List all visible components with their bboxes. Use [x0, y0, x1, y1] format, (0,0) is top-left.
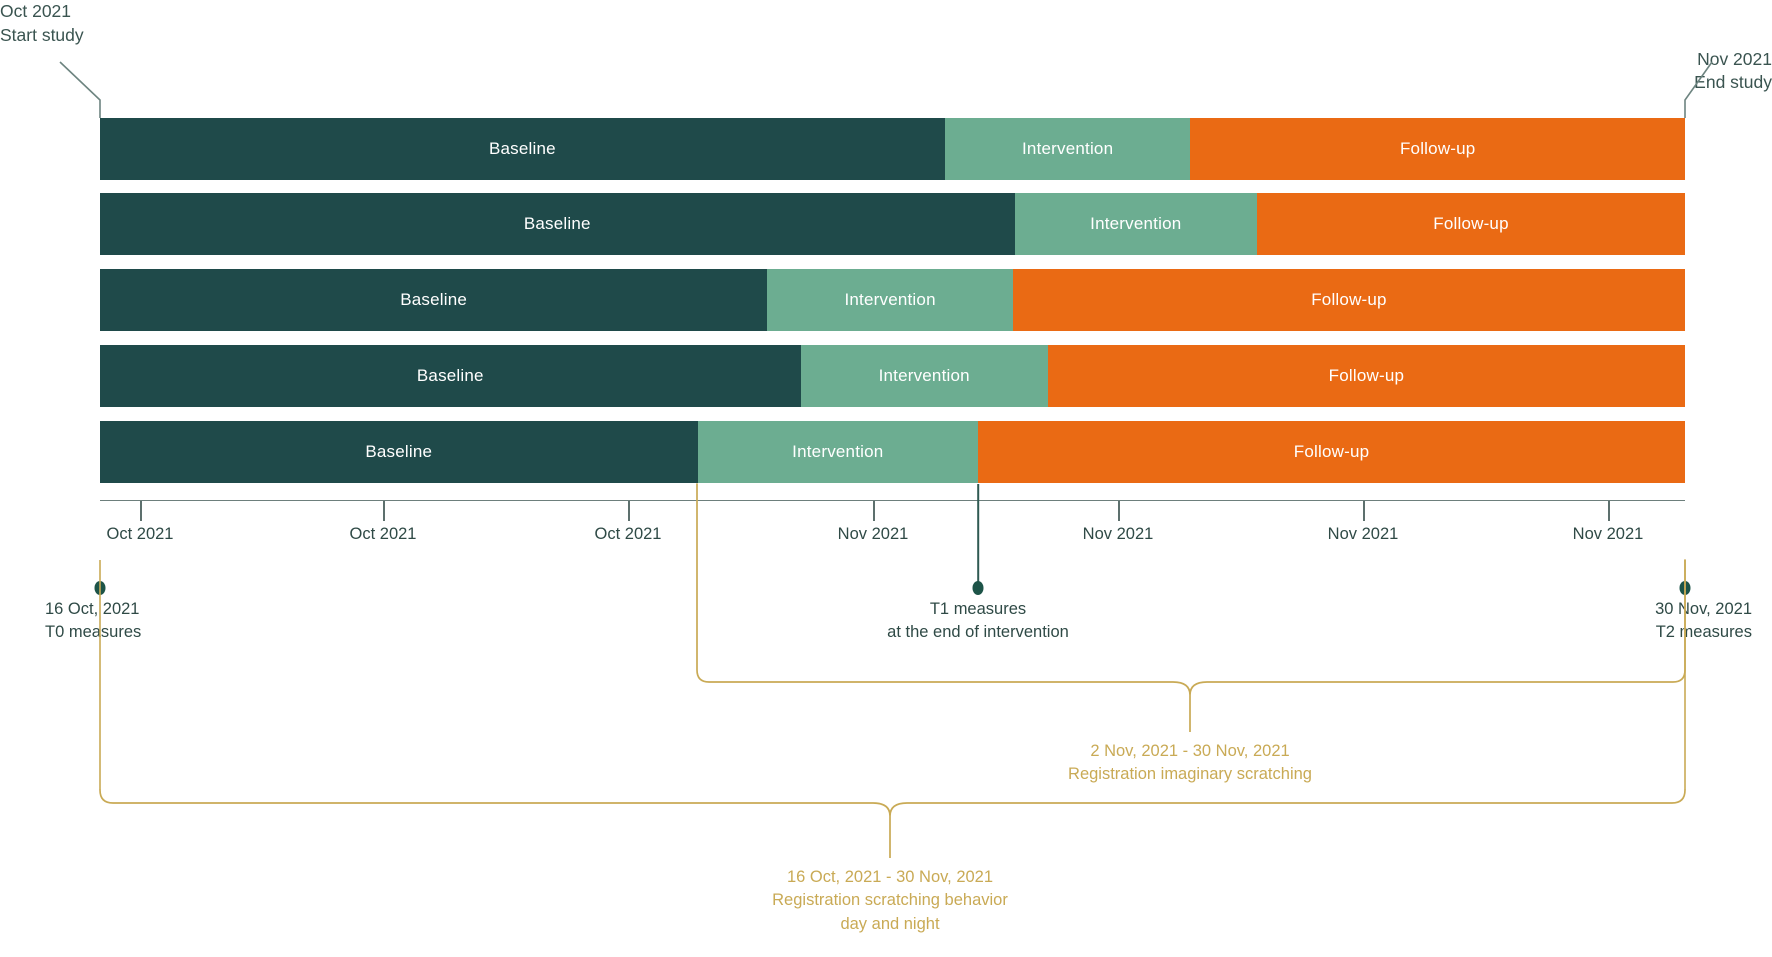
segment-label: Follow-up	[1294, 442, 1370, 462]
segment-label: Follow-up	[1329, 366, 1405, 386]
segment-label: Intervention	[844, 290, 935, 310]
segment-label: Baseline	[489, 139, 556, 159]
segment-baseline: Baseline	[100, 193, 1015, 255]
segment-label: Follow-up	[1311, 290, 1387, 310]
axis-tick-label: Oct 2021	[350, 525, 417, 544]
segment-followup: Follow-up	[1013, 269, 1685, 331]
timeline-diagram: Oct 2021 Start study Nov 2021 End study …	[0, 0, 1772, 957]
segment-label: Follow-up	[1400, 139, 1476, 159]
axis-tick	[628, 501, 630, 521]
axis-tick	[1363, 501, 1365, 521]
axis-tick	[873, 501, 875, 521]
axis-tick-label: Nov 2021	[1328, 525, 1399, 544]
segment-intervention: Intervention	[801, 345, 1048, 407]
segment-label: Follow-up	[1433, 214, 1509, 234]
segment-label: Baseline	[524, 214, 591, 234]
segment-baseline: Baseline	[100, 118, 945, 180]
segment-label: Baseline	[417, 366, 484, 386]
axis-tick-label: Oct 2021	[595, 525, 662, 544]
segment-label: Intervention	[879, 366, 970, 386]
milestone-dot-t0	[95, 581, 106, 595]
segment-followup: Follow-up	[1257, 193, 1685, 255]
segment-intervention: Intervention	[767, 269, 1013, 331]
table-row: Baseline Intervention Follow-up	[100, 193, 1685, 255]
segment-label: Intervention	[1090, 214, 1181, 234]
axis-tick-label: Nov 2021	[1573, 525, 1644, 544]
table-row: Baseline Intervention Follow-up	[100, 345, 1685, 407]
milestone-label-t2: 30 Nov, 2021 T2 measures	[1655, 598, 1752, 644]
axis-tick	[1118, 501, 1120, 521]
axis-tick-label: Nov 2021	[838, 525, 909, 544]
segment-baseline: Baseline	[100, 269, 767, 331]
segment-intervention: Intervention	[698, 421, 979, 483]
axis-tick-label: Nov 2021	[1083, 525, 1154, 544]
segment-baseline: Baseline	[100, 421, 698, 483]
axis-tick-label: Oct 2021	[107, 525, 174, 544]
milestone-stem-t1	[977, 484, 979, 588]
milestone-dot-t1	[973, 581, 984, 595]
axis-tick	[1608, 501, 1610, 521]
milestone-label-t1: T1 measures at the end of intervention	[887, 598, 1069, 644]
table-row: Baseline Intervention Follow-up	[100, 269, 1685, 331]
table-row: Baseline Intervention Follow-up	[100, 118, 1685, 180]
axis-tick	[140, 501, 142, 521]
segment-followup: Follow-up	[1190, 118, 1685, 180]
segment-baseline: Baseline	[100, 345, 801, 407]
segment-intervention: Intervention	[1015, 193, 1258, 255]
segment-label: Baseline	[365, 442, 432, 462]
table-row: Baseline Intervention Follow-up	[100, 421, 1685, 483]
segment-label: Baseline	[400, 290, 467, 310]
segment-intervention: Intervention	[945, 118, 1191, 180]
segment-followup: Follow-up	[1048, 345, 1685, 407]
axis-line	[100, 500, 1685, 501]
segment-label: Intervention	[1022, 139, 1113, 159]
segment-label: Intervention	[792, 442, 883, 462]
axis-tick	[383, 501, 385, 521]
leader-lines	[0, 0, 1772, 130]
milestone-label-t0: 16 Oct, 2021 T0 measures	[45, 598, 141, 644]
segment-followup: Follow-up	[978, 421, 1685, 483]
annotation-imaginary-scratching: 2 Nov, 2021 - 30 Nov, 2021 Registration …	[1068, 740, 1312, 787]
annotation-scratching-behavior: 16 Oct, 2021 - 30 Nov, 2021 Registration…	[772, 866, 1008, 936]
milestone-dot-t2	[1680, 581, 1691, 595]
